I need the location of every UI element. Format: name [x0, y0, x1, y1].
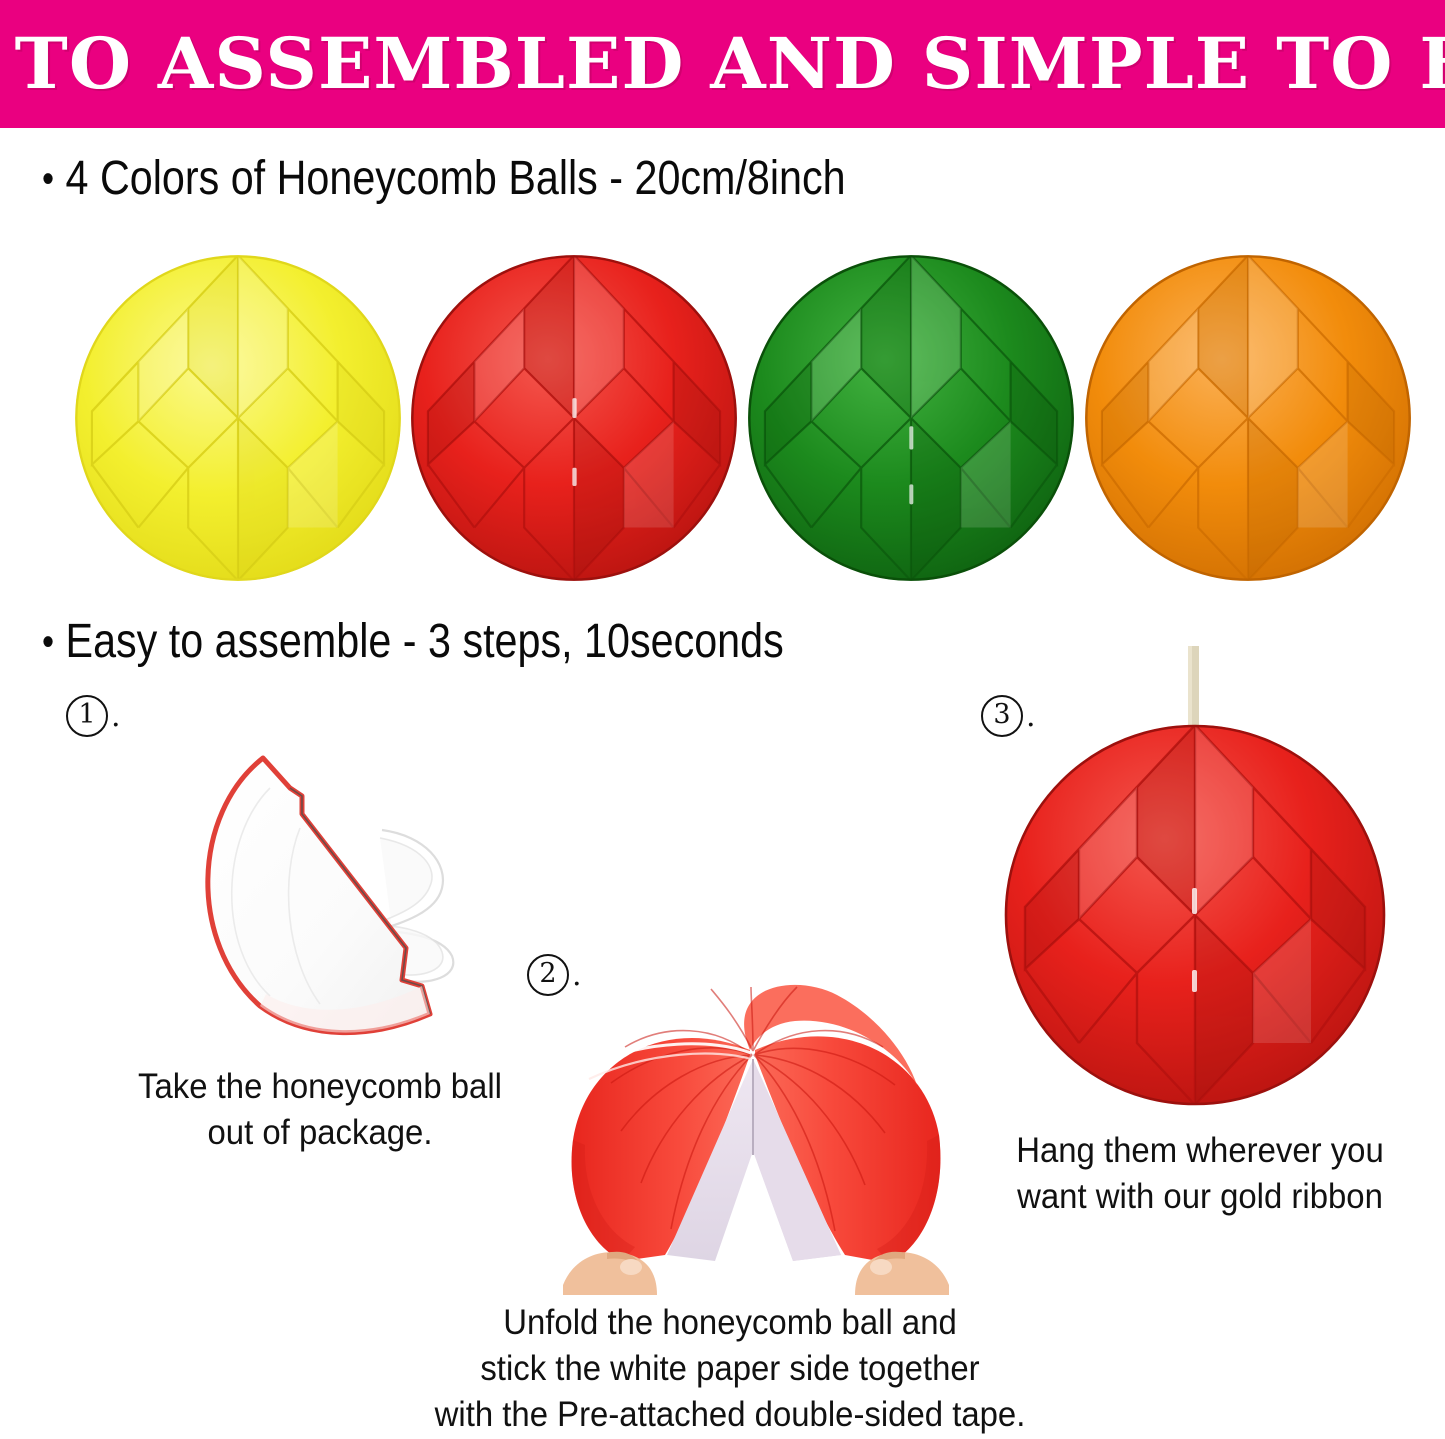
step-2-caption: Unfold the honeycomb ball and stick the …: [420, 1300, 1040, 1439]
step-3-caption-line-1: Hang them wherever you: [979, 1128, 1421, 1174]
bullet-assembly: • Easy to assemble - 3 steps, 10seconds: [42, 618, 784, 666]
step-1-caption: Take the honeycomb ball out of package.: [76, 1064, 565, 1156]
step-2-caption-line-3: with the Pre-attached double-sided tape.: [420, 1392, 1040, 1438]
step-2-caption-line-2: stick the white paper side together: [420, 1346, 1040, 1392]
honeycomb-ball-green: [745, 252, 1077, 584]
banner-title: EASY TO ASSEMBLED AND SIMPLE TO HANG: [0, 29, 1445, 99]
hand-left: [563, 1252, 657, 1295]
bullet-marker-icon: •: [42, 620, 54, 664]
honeycomb-ball-red: [408, 252, 740, 584]
step-3-figure-hanging-ball: [1000, 640, 1390, 1120]
bullet-marker-icon: •: [42, 157, 54, 201]
honeycomb-ball-row: [0, 252, 1445, 588]
step-2-caption-line-1: Unfold the honeycomb ball and: [420, 1300, 1040, 1346]
bullet-colors: • 4 Colors of Honeycomb Balls - 20cm/8in…: [42, 155, 846, 203]
step-2-figure-unfolding-hands: [545, 955, 975, 1295]
step-1-caption-line-1: Take the honeycomb ball: [76, 1064, 565, 1110]
bullet-assembly-text: Easy to assemble - 3 steps, 10seconds: [66, 615, 784, 668]
step-1-period: .: [111, 699, 121, 734]
step-1-caption-line-2: out of package.: [76, 1110, 565, 1156]
honeycomb-ball-orange: [1082, 252, 1414, 584]
step-3-caption: Hang them wherever you want with our gol…: [979, 1128, 1421, 1220]
step-3-caption-line-2: want with our gold ribbon: [979, 1174, 1421, 1220]
step-1-circle: 1: [66, 695, 108, 737]
bullet-colors-text: 4 Colors of Honeycomb Balls - 20cm/8inch: [66, 152, 846, 205]
step-1-number: 1.: [66, 694, 121, 737]
header-banner: EASY TO ASSEMBLED AND SIMPLE TO HANG: [0, 0, 1445, 128]
step-1-figure-flat-package: [130, 718, 530, 1068]
honeycomb-ball-yellow: [72, 252, 404, 584]
